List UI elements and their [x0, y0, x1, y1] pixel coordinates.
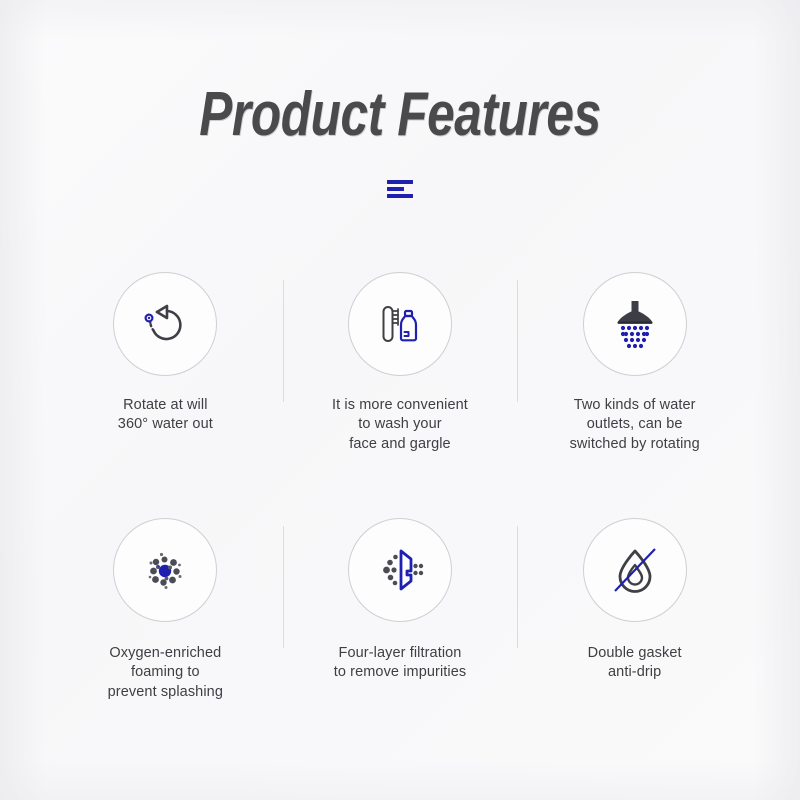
feature-cell-filtration[interactable]: Four-layer filtration to remove impuriti… [283, 518, 518, 764]
divider-bar-top [387, 180, 413, 184]
filter-funnel-icon [370, 540, 430, 600]
feature-icon-badge [348, 518, 452, 622]
no-drip-droplet-icon [604, 539, 666, 601]
feature-cell-foaming[interactable]: Oxygen-enriched foaming to prevent splas… [48, 518, 283, 764]
feature-caption: Double gasket anti-drip [588, 644, 682, 683]
feature-caption: It is more convenient to wash your face … [332, 396, 468, 454]
product-features-page: Product Features [0, 0, 800, 800]
feature-icon-badge [113, 518, 217, 622]
feature-caption: Oxygen-enriched foaming to prevent splas… [108, 644, 223, 702]
feature-cell-rotate[interactable]: Rotate at will 360° water out [48, 272, 283, 518]
feature-caption: Two kinds of water outlets, can be switc… [570, 396, 700, 454]
feature-icon-badge [583, 272, 687, 376]
feature-icon-badge [113, 272, 217, 376]
divider-bar-middle [387, 187, 404, 191]
feature-grid: Rotate at will 360° water out [48, 272, 752, 764]
feature-cell-wash[interactable]: It is more convenient to wash your face … [283, 272, 518, 518]
feature-cell-anti-drip[interactable]: Double gasket anti-drip [517, 518, 752, 764]
rotate-arrow-icon [135, 294, 195, 354]
hamburger-divider-icon [387, 180, 413, 198]
page-header: Product Features [0, 84, 800, 198]
feature-cell-outlets[interactable]: Two kinds of water outlets, can be switc… [517, 272, 752, 518]
feature-caption: Four-layer filtration to remove impuriti… [334, 644, 467, 683]
toothbrush-bottle-icon [370, 294, 430, 354]
bubbles-foam-icon [135, 540, 195, 600]
feature-icon-badge [348, 272, 452, 376]
page-title: Product Features [80, 84, 720, 146]
divider-bar-bottom [387, 194, 413, 198]
shower-head-icon [604, 293, 666, 355]
feature-caption: Rotate at will 360° water out [118, 396, 213, 435]
feature-icon-badge [583, 518, 687, 622]
